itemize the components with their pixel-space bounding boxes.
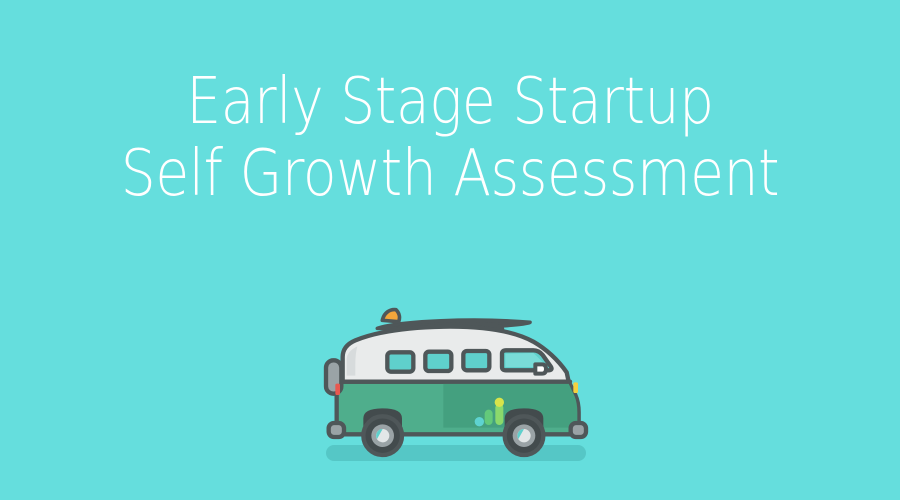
side-window-3 — [463, 351, 489, 370]
rear-taillight — [335, 384, 340, 395]
side-window-2 — [425, 352, 451, 371]
side-mirror — [535, 364, 546, 373]
dot-yellow — [495, 398, 504, 407]
rear-wheel — [363, 408, 402, 455]
dot-cyan — [475, 417, 484, 426]
side-window-1 — [387, 352, 413, 371]
title-line-1: Early Stage Startup — [63, 66, 837, 138]
front-wheel — [505, 408, 544, 455]
banner-root: Early Stage Startup Self Growth Assessme… — [0, 0, 900, 500]
rear-bumper — [329, 423, 344, 437]
page-title: Early Stage Startup Self Growth Assessme… — [0, 66, 900, 210]
front-bumper — [571, 423, 586, 437]
front-indicator — [573, 382, 578, 393]
title-line-2: Self Growth Assessment — [63, 138, 837, 210]
camper-van-illustration — [300, 285, 610, 480]
surfboard-fin — [382, 310, 399, 322]
side-windows — [387, 351, 489, 372]
bar-green — [485, 410, 493, 425]
